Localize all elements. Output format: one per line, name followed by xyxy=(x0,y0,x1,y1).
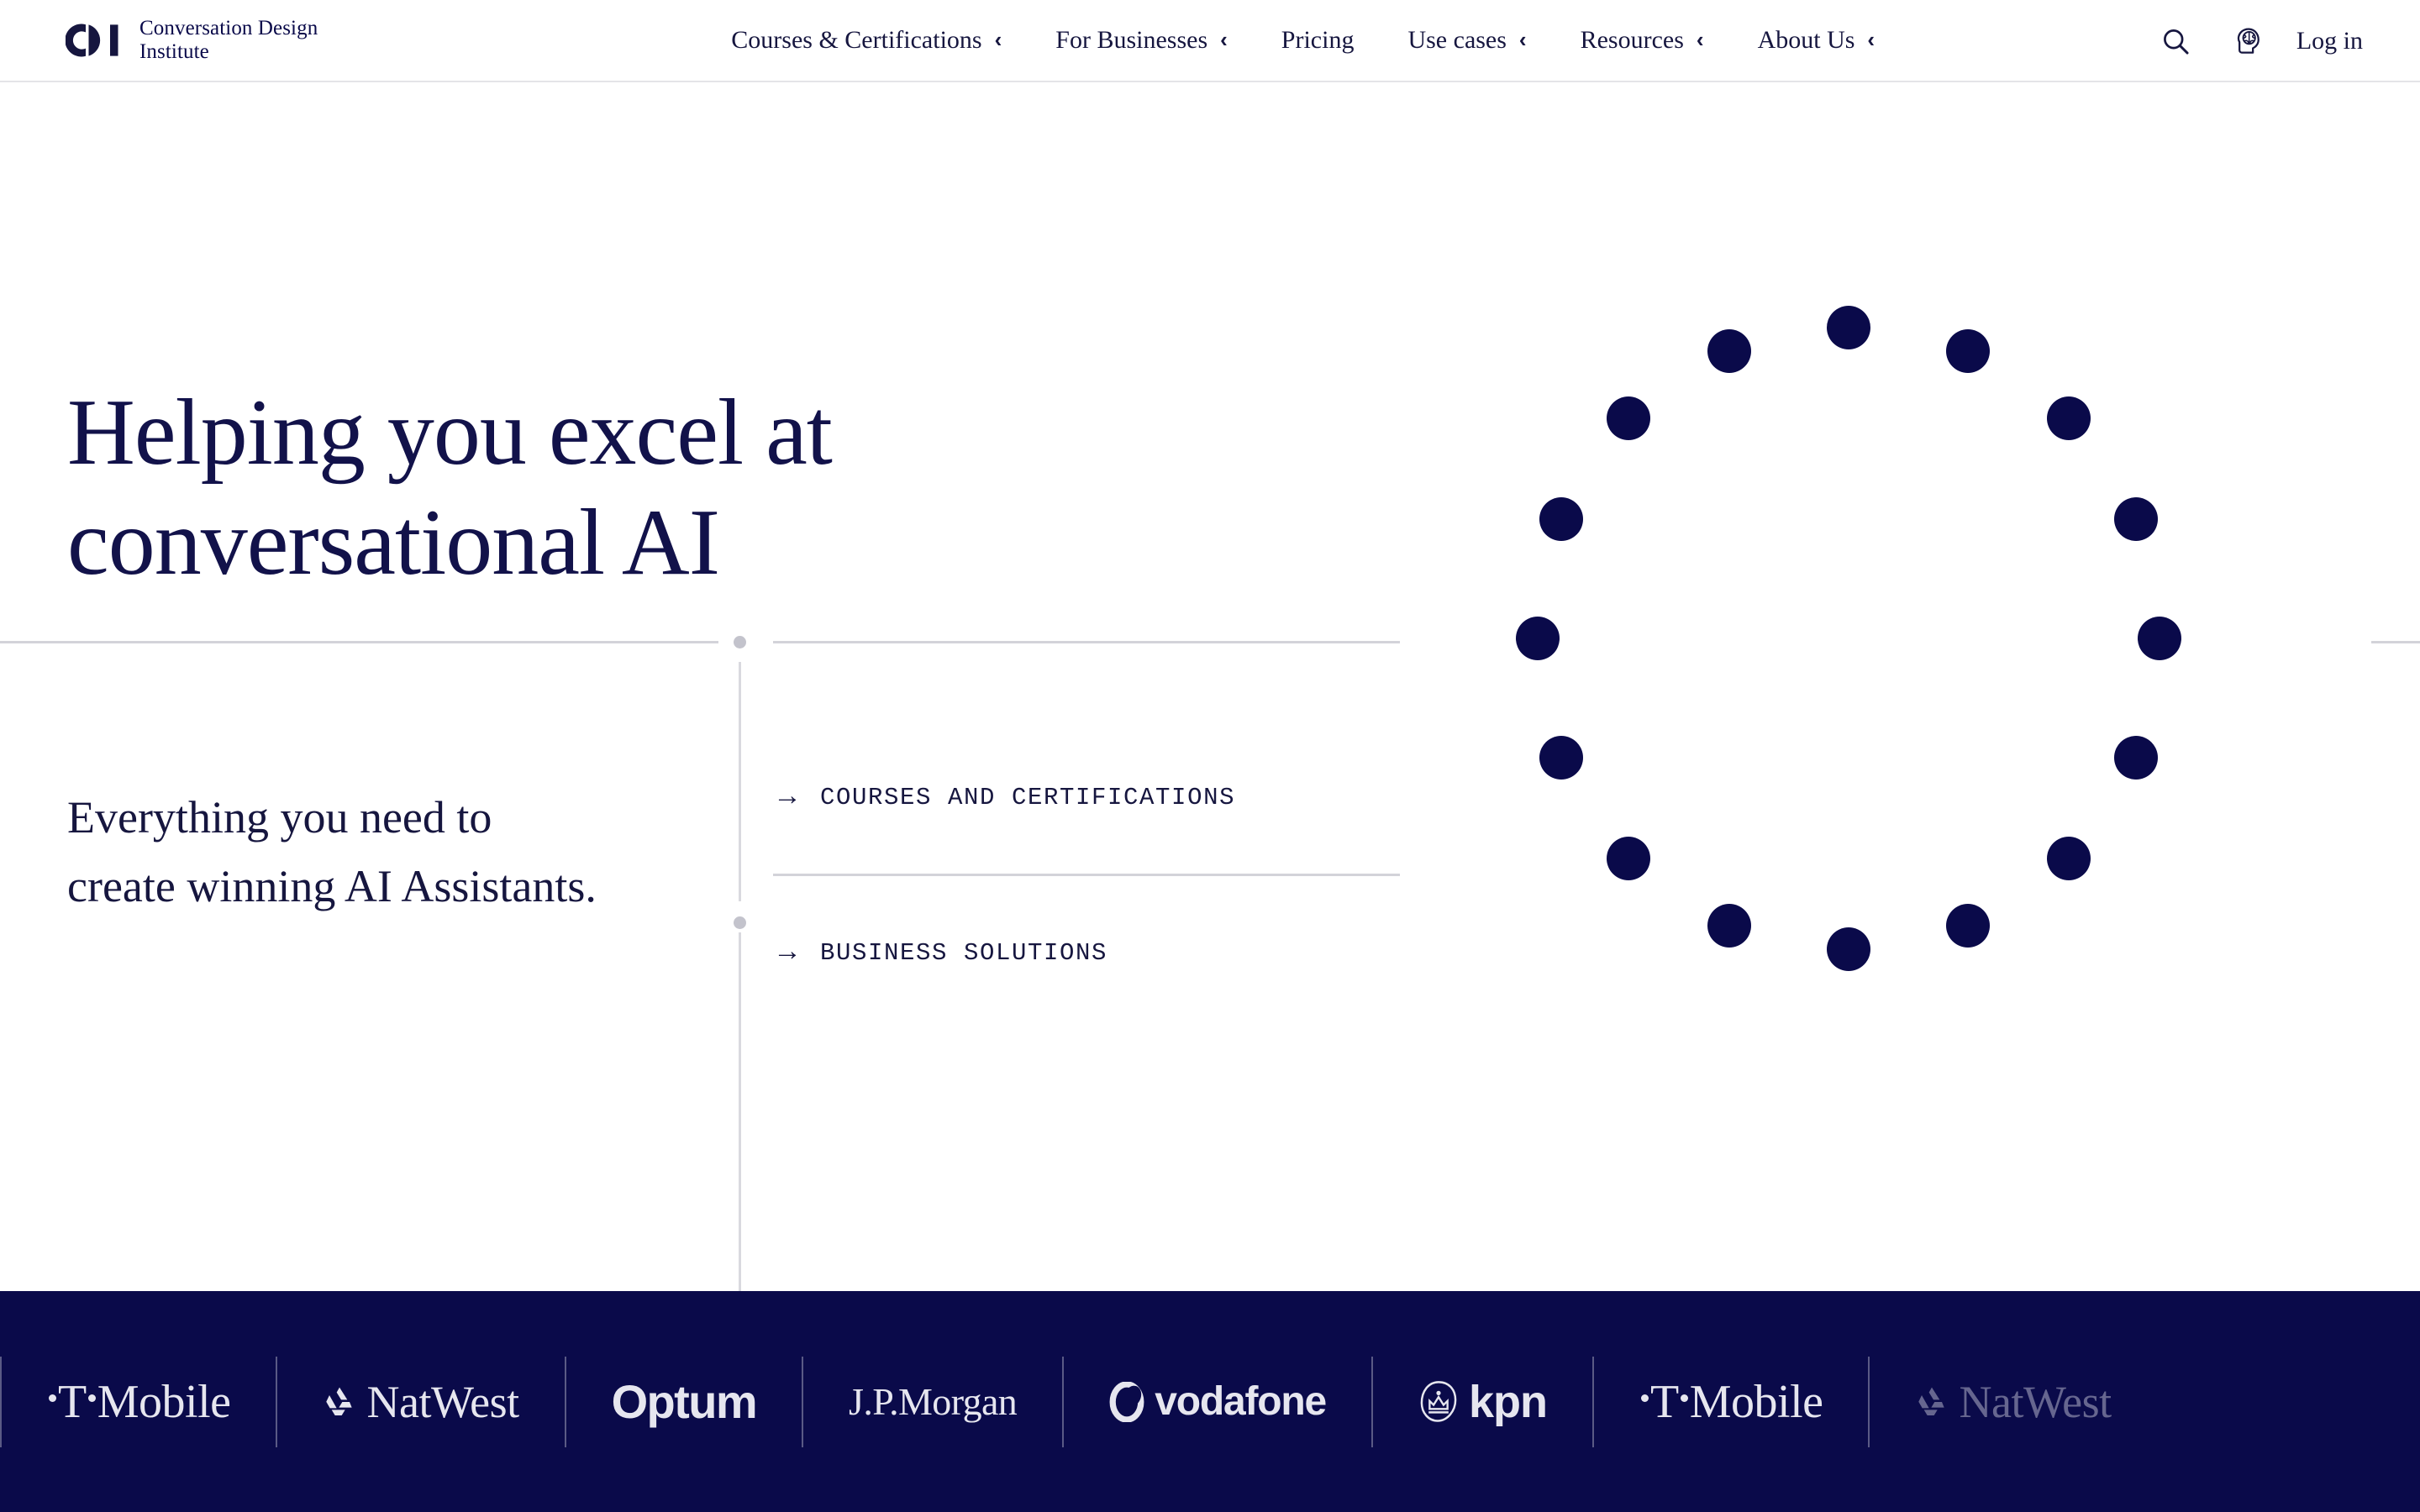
logo-glyph: NatWest xyxy=(323,1379,518,1425)
ring-dot xyxy=(1539,736,1583,780)
hero-section: Helping you excel at conversational AI E… xyxy=(0,82,2420,1291)
logo-glyph: J.P.Morgan xyxy=(849,1383,1017,1421)
logo-wordmark: J.P.Morgan xyxy=(849,1383,1017,1421)
logo-wordmark: vodafone xyxy=(1155,1382,1326,1422)
divider-horizontal-mid xyxy=(773,641,1400,643)
cta-business-solutions[interactable]: → BUSINESS SOLUTIONS xyxy=(773,876,1403,1029)
client-logo-t-mobile: TMobile xyxy=(2,1291,276,1512)
nav-item-courses-certifications[interactable]: Courses & Certifications ‹ xyxy=(704,28,1028,53)
nav-item-use-cases[interactable]: Use cases ‹ xyxy=(1381,28,1553,53)
logo-wordmark: NatWest xyxy=(1959,1379,2111,1425)
search-icon[interactable] xyxy=(2157,23,2194,60)
ring-dot xyxy=(2138,617,2181,660)
divider-vertical-top xyxy=(739,662,741,901)
logo-wordmark: NatWest xyxy=(366,1379,518,1425)
nav-label: Courses & Certifications xyxy=(731,28,981,53)
ring-dot xyxy=(2114,497,2158,541)
divider-node-dot xyxy=(734,916,746,929)
arrow-right-icon: → xyxy=(773,781,802,810)
logo-glyph: NatWest xyxy=(1915,1379,2111,1425)
client-logo-optum: Optum xyxy=(566,1291,802,1512)
kpn-crown-icon xyxy=(1418,1380,1459,1424)
natwest-mark-icon xyxy=(1915,1385,1949,1419)
ring-dot xyxy=(1607,837,1650,880)
hero-subcopy: Everything you need to create winning AI… xyxy=(67,784,605,921)
nav-item-resources[interactable]: Resources ‹ xyxy=(1554,28,1731,53)
site-header: Conversation Design Institute Courses & … xyxy=(0,0,2420,82)
ring-dot xyxy=(1946,329,1990,373)
ring-dot xyxy=(1539,497,1583,541)
dot-ring-graphic xyxy=(1428,218,2269,1058)
chevron-left-icon: ‹ xyxy=(1697,29,1704,50)
logo-glyph: Optum xyxy=(612,1378,756,1425)
arrow-right-icon: → xyxy=(773,937,802,965)
page-title: Helping you excel at conversational AI xyxy=(67,378,1160,598)
nav-item-about-us[interactable]: About Us ‹ xyxy=(1731,28,1902,53)
client-logo-jpmorgan: J.P.Morgan xyxy=(803,1291,1062,1512)
vodafone-mark-icon xyxy=(1109,1382,1144,1422)
brand-logo-link[interactable]: Conversation Design Institute xyxy=(66,17,318,65)
chevron-left-icon: ‹ xyxy=(995,29,1002,50)
logo-glyph: vodafone xyxy=(1109,1382,1326,1422)
nav-item-for-businesses[interactable]: For Businesses ‹ xyxy=(1028,28,1255,53)
cta-label: BUSINESS SOLUTIONS xyxy=(820,939,1107,967)
nav-label: About Us xyxy=(1758,28,1855,53)
logo-wordmark: kpn xyxy=(1469,1379,1547,1425)
hero-cta-list: → COURSES AND CERTIFICATIONS → BUSINESS … xyxy=(773,721,1403,1029)
ring-dot xyxy=(2114,736,2158,780)
ring-dot xyxy=(1827,306,1870,349)
divider-horizontal-left xyxy=(0,641,718,643)
logo-glyph: kpn xyxy=(1418,1379,1547,1425)
cdi-monogram-icon xyxy=(66,22,121,59)
logo-wordmark: TMobile xyxy=(1639,1378,1823,1425)
brand-name: Conversation Design Institute xyxy=(139,17,318,65)
nav-label: Resources xyxy=(1581,28,1684,53)
cta-label: COURSES AND CERTIFICATIONS xyxy=(820,784,1235,811)
page-root: Conversation Design Institute Courses & … xyxy=(0,0,2420,1512)
head-brain-icon[interactable] xyxy=(2229,23,2266,60)
nav-item-pricing[interactable]: Pricing xyxy=(1255,28,1381,53)
client-logo-natwest: NatWest xyxy=(277,1291,564,1512)
ring-dot xyxy=(1516,617,1560,660)
chevron-left-icon: ‹ xyxy=(1220,29,1228,50)
nav-label: Pricing xyxy=(1281,28,1355,53)
logo-glyph: TMobile xyxy=(47,1378,230,1425)
ring-dot xyxy=(1827,927,1870,971)
divider-vertical-bottom xyxy=(739,932,741,1292)
ring-dot xyxy=(1707,904,1751,948)
client-logo-vodafone: vodafone xyxy=(1064,1291,1371,1512)
nav-label: Use cases xyxy=(1407,28,1506,53)
logo-wordmark: TMobile xyxy=(47,1378,230,1425)
ring-dot xyxy=(1607,396,1650,440)
client-logo-natwest: NatWest xyxy=(1870,1291,2156,1512)
divider-horizontal-right xyxy=(2371,641,2420,643)
ring-dot xyxy=(1707,329,1751,373)
primary-nav: Courses & Certifications ‹ For Businesse… xyxy=(704,28,1902,53)
login-link[interactable]: Log in xyxy=(2296,27,2363,55)
chevron-left-icon: ‹ xyxy=(1519,29,1527,50)
ring-dot xyxy=(2047,837,2091,880)
chevron-left-icon: ‹ xyxy=(1867,29,1875,50)
logo-track: TMobileNatWestOptumJ.P.Morganvodafonekpn… xyxy=(0,1291,2157,1512)
client-logo-t-mobile: TMobile xyxy=(1594,1291,1868,1512)
header-actions: Log in xyxy=(2157,0,2363,82)
natwest-mark-icon xyxy=(323,1385,356,1419)
ring-dot xyxy=(2047,396,2091,440)
client-logo-kpn: kpn xyxy=(1373,1291,1592,1512)
ring-dot xyxy=(1946,904,1990,948)
divider-node-dot xyxy=(734,636,746,648)
logo-wordmark: Optum xyxy=(612,1378,756,1425)
nav-label: For Businesses xyxy=(1055,28,1207,53)
cta-courses-and-certifications[interactable]: → COURSES AND CERTIFICATIONS xyxy=(773,721,1403,874)
client-logo-bar: TMobileNatWestOptumJ.P.Morganvodafonekpn… xyxy=(0,1291,2420,1512)
logo-glyph: TMobile xyxy=(1639,1378,1823,1425)
